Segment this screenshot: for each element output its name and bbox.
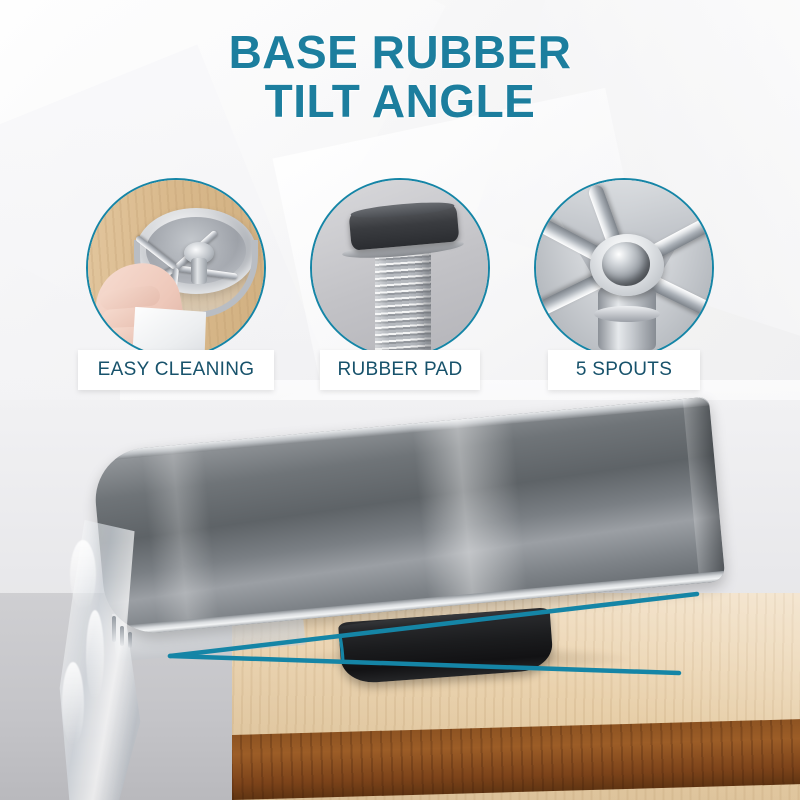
infographic-stage: BASE RUBBER TILT ANGLE: [0, 0, 800, 800]
feature-label: EASY CLEANING: [98, 359, 255, 381]
feature-label-plate: RUBBER PAD: [320, 350, 480, 390]
title-line-2: TILT ANGLE: [0, 77, 800, 126]
feature-item-easy-cleaning[interactable]: EASY CLEANING: [78, 178, 274, 390]
feature-label: 5 SPOUTS: [576, 359, 672, 381]
rubber-pad-bolt-icon: [310, 178, 490, 358]
feature-label-plate: 5 SPOUTS: [548, 350, 700, 390]
five-spouts-icon: [534, 178, 714, 358]
water-drip: [128, 632, 132, 648]
feature-item-rubber-pad[interactable]: RUBBER PAD: [302, 178, 498, 390]
product-scene: [0, 400, 800, 800]
page-title: BASE RUBBER TILT ANGLE: [0, 28, 800, 126]
title-line-1: BASE RUBBER: [0, 28, 800, 77]
water-drip: [112, 616, 116, 642]
hand-cleaning-icon: [86, 178, 266, 358]
feature-label-plate: EASY CLEANING: [78, 350, 274, 390]
feature-item-5-spouts[interactable]: 5 SPOUTS: [526, 178, 722, 390]
water-drip: [120, 626, 124, 646]
feature-label: RUBBER PAD: [337, 359, 462, 381]
feature-list: EASY CLEANING RUBBER PAD: [0, 178, 800, 390]
